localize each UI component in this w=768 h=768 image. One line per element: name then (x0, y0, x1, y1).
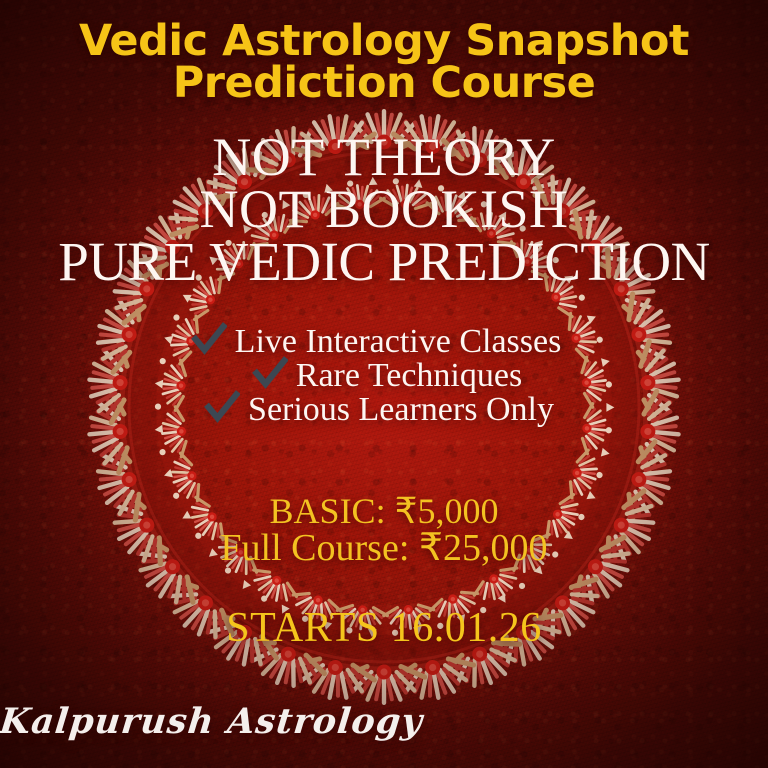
price-basic: BASIC: ₹5,000 (0, 493, 768, 530)
list-item: Serious Learners Only (0, 393, 768, 427)
price-full-course: Full Course: ₹25,000 (0, 529, 768, 568)
headline-line-2: NOT BOOKISH (0, 184, 768, 236)
headline-block: NOT THEORY NOT BOOKISH PURE VEDIC PREDIC… (0, 132, 768, 288)
list-item: Live Interactive Classes (0, 325, 768, 359)
pricing-block: BASIC: ₹5,000 Full Course: ₹25,000 (0, 493, 768, 568)
benefits-list: Live Interactive Classes Rare Techniques… (0, 325, 768, 427)
headline-line-3: PURE VEDIC PREDICTION (0, 236, 768, 289)
check-icon (191, 322, 227, 358)
benefit-label: Rare Techniques (296, 359, 522, 393)
list-item: Rare Techniques (6, 359, 768, 393)
headline-line-1: NOT THEORY (0, 132, 768, 184)
poster-canvas: Vedic Astrology Snapshot Prediction Cour… (0, 0, 768, 768)
brand-signature: Kalpurush Astrology (0, 701, 768, 742)
page-title: Vedic Astrology Snapshot Prediction Cour… (0, 20, 768, 104)
check-icon (204, 390, 240, 426)
title-line-1: Vedic Astrology Snapshot (0, 20, 768, 62)
title-line-2: Prediction Course (0, 62, 768, 104)
start-date: STARTS 16.01.26 (0, 604, 768, 652)
benefit-label: Live Interactive Classes (235, 325, 562, 359)
benefit-label: Serious Learners Only (248, 393, 554, 427)
check-icon (252, 356, 288, 392)
poster-content: Vedic Astrology Snapshot Prediction Cour… (0, 0, 768, 768)
